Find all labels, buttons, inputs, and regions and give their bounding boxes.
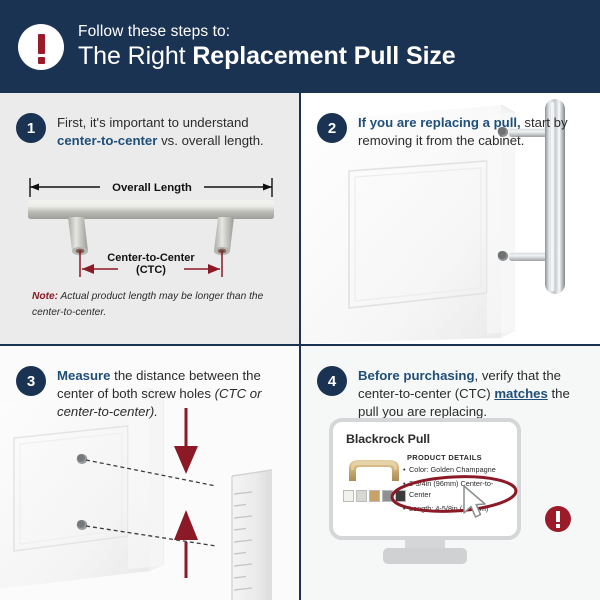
step-3-text: Measure the distance between the center … — [57, 365, 287, 422]
alert-exclamation-icon — [18, 24, 64, 70]
header-title-bold: Replacement Pull Size — [192, 42, 455, 70]
step-1-heading: 1 First, it's important to understand ce… — [16, 112, 287, 150]
step-number-badge-4: 4 — [317, 366, 347, 396]
swatch-champagne[interactable] — [369, 490, 380, 502]
step-4-text: Before purchasing, verify that the cente… — [358, 365, 588, 422]
red-highlight-circle — [389, 474, 519, 514]
step-4-heading: 4 Before purchasing, verify that the cen… — [317, 365, 588, 422]
note-label: Note: — [32, 291, 58, 302]
ctc-label-line1: Center-to-Center — [107, 252, 195, 264]
step-1-lead: First, it's important to understand — [57, 115, 249, 130]
step-2-heading: 2 If you are replacing a pull, start by … — [317, 112, 588, 150]
step-panel-1: 1 First, it's important to understand ce… — [0, 93, 299, 344]
step-number-badge-1: 1 — [16, 113, 46, 143]
header-banner: Follow these steps to: The Right Replace… — [0, 0, 600, 93]
header-text-block: Follow these steps to: The Right Replace… — [78, 22, 456, 72]
product-monitor-mockup: Blackrock Pull — [329, 418, 521, 566]
alert-exclamation-icon-small — [545, 506, 571, 532]
step-4-bold: Before purchasing — [358, 368, 475, 383]
monitor-stand-base — [383, 548, 467, 564]
matches-link[interactable]: matches — [494, 386, 548, 401]
step-3-bold: Measure — [57, 368, 111, 383]
infographic-root: Follow these steps to: The Right Replace… — [0, 0, 600, 600]
header-title-light: The Right — [78, 42, 192, 70]
step-number-badge-3: 3 — [16, 366, 46, 396]
step-panel-3: 3 Measure the distance between the cente… — [0, 346, 299, 600]
step-number-badge-2: 2 — [317, 113, 347, 143]
step-2-text: If you are replacing a pull, start by re… — [358, 112, 588, 150]
product-title: Blackrock Pull — [346, 432, 430, 446]
header-kicker: Follow these steps to: — [78, 22, 456, 41]
mouse-cursor-icon — [461, 484, 491, 520]
steps-grid: 1 First, it's important to understand ce… — [0, 93, 600, 600]
product-page-screen[interactable]: Blackrock Pull — [329, 418, 521, 540]
pull-measurement-diagram: Overall Length — [22, 173, 280, 278]
step-panel-2: 2 If you are replacing a pull, start by … — [301, 93, 600, 344]
page-title: The Right Replacement Pull Size — [78, 41, 456, 72]
step-1-bold: center-to-center — [57, 133, 157, 148]
overall-length-label: Overall Length — [112, 182, 192, 194]
note-text: Actual product length may be longer than… — [32, 291, 263, 318]
step-3-heading: 3 Measure the distance between the cente… — [16, 365, 287, 422]
step-1-tail: vs. overall length. — [157, 133, 263, 148]
step-1-text: First, it's important to understand cent… — [57, 112, 287, 150]
product-details-heading: PRODUCT DETAILS — [407, 453, 482, 462]
swatch-white[interactable] — [343, 490, 354, 502]
swatch-silver[interactable] — [356, 490, 367, 502]
step-2-bold: If you are replacing a pull, — [358, 115, 521, 130]
step-panel-4: 4 Before purchasing, verify that the cen… — [301, 346, 600, 600]
step-1-note: Note: Actual product length may be longe… — [32, 289, 272, 321]
ctc-label-line2: (CTC) — [136, 264, 166, 276]
